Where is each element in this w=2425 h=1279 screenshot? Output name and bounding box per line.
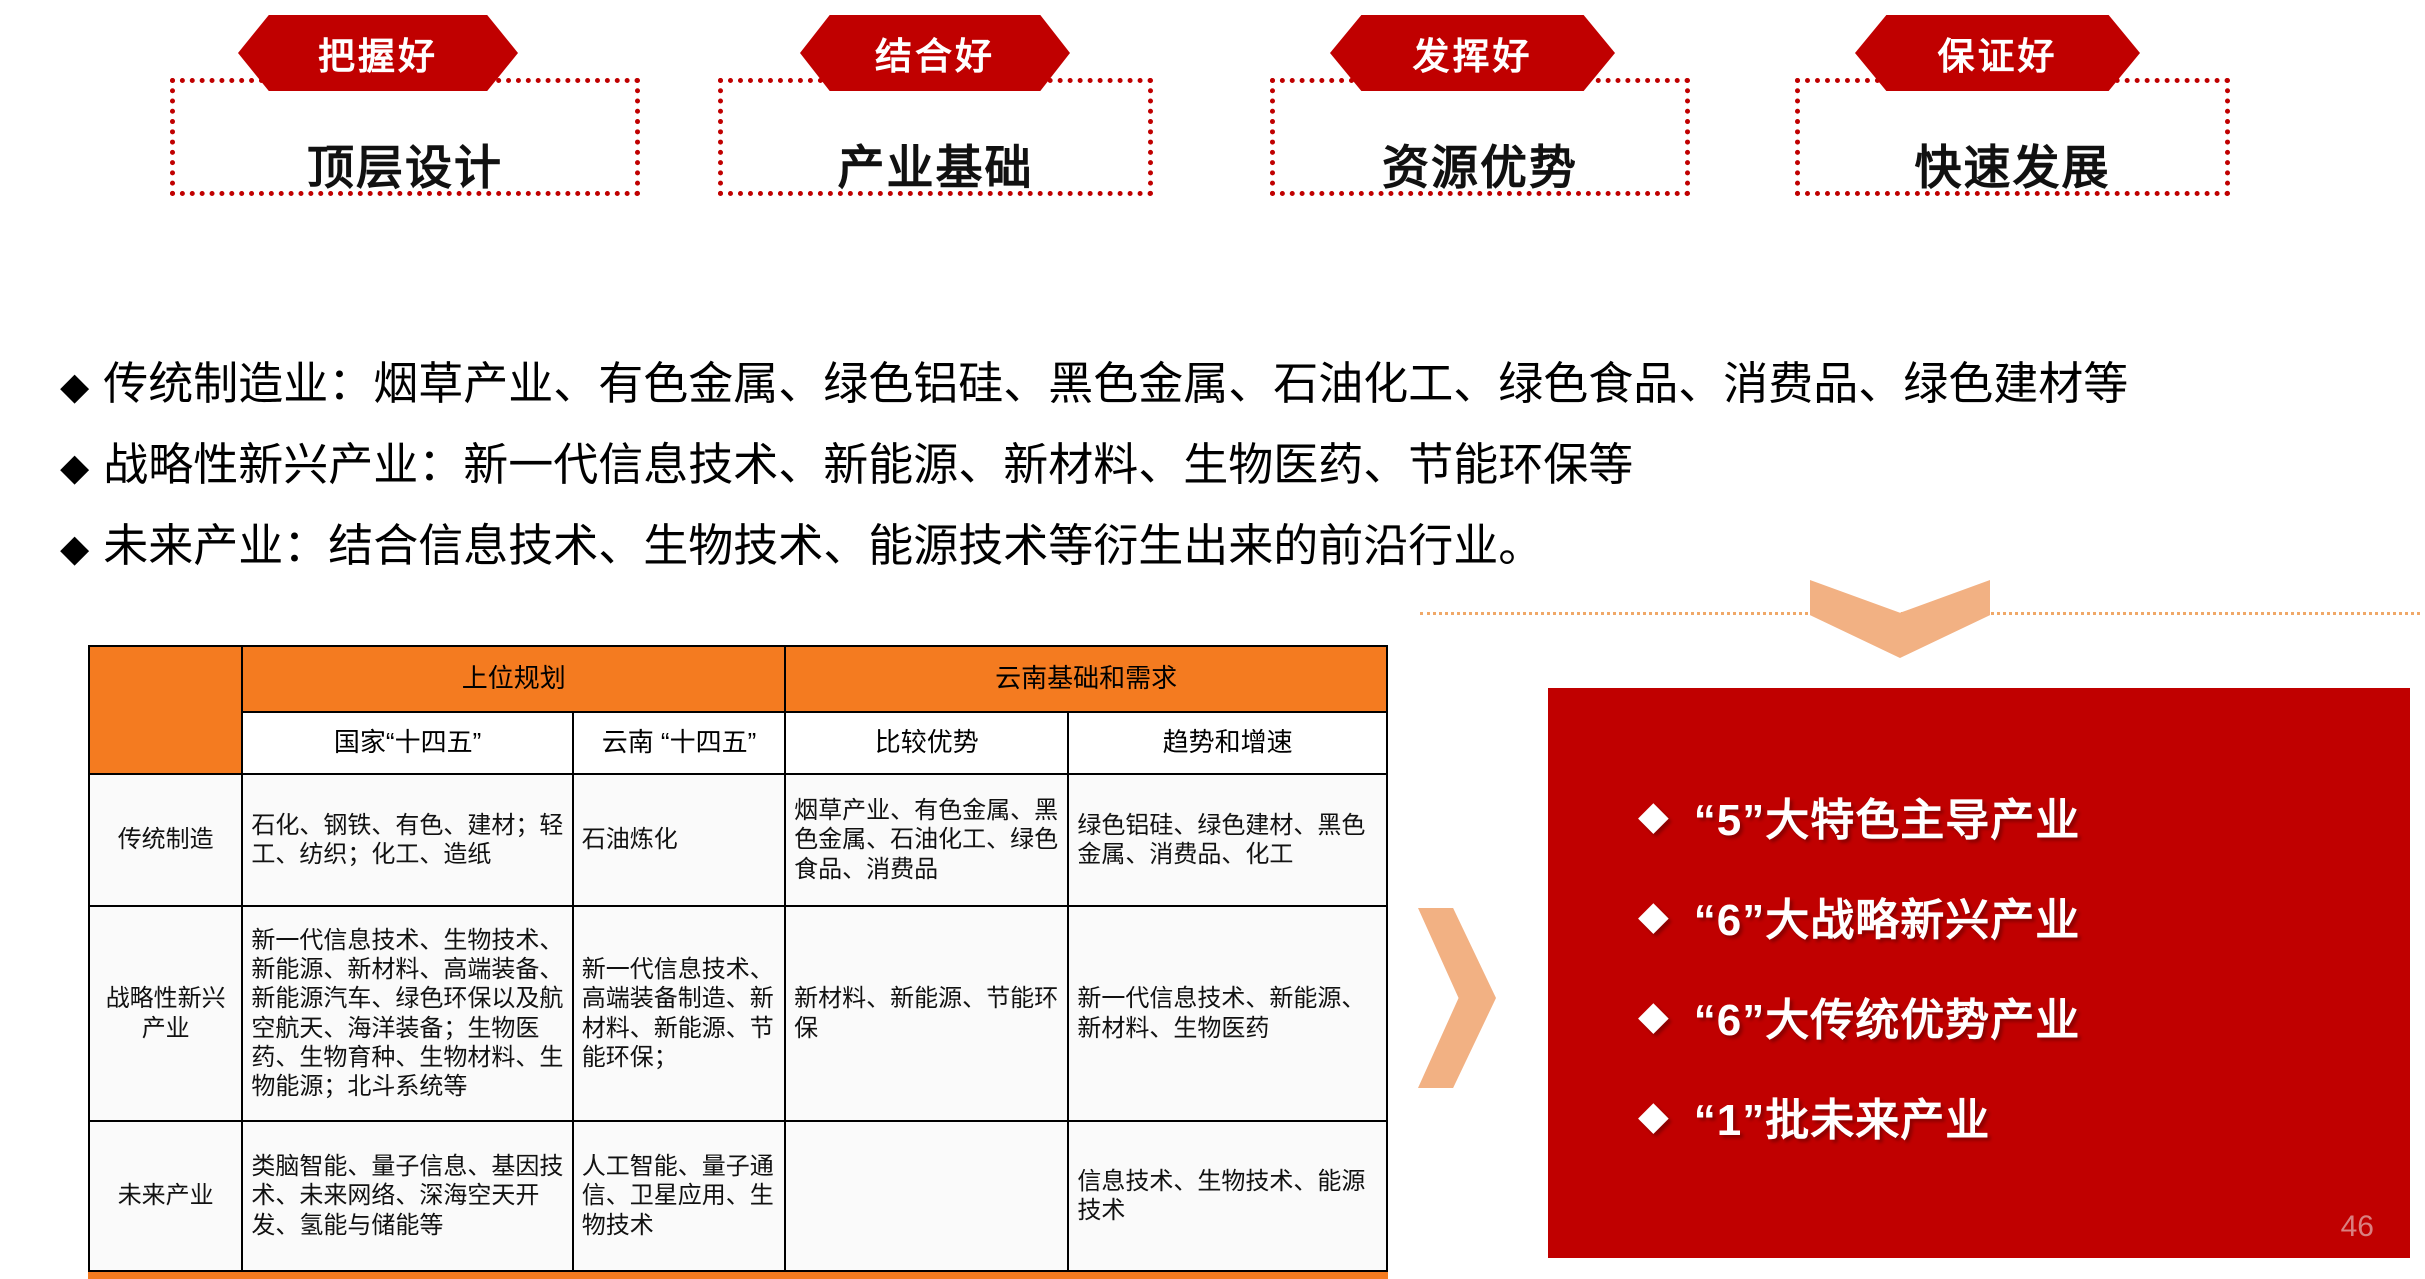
top-card-2: 产业基础 <box>718 78 1153 196</box>
cell-r0-c1: 石油炼化 <box>573 774 785 906</box>
cell-r1-c1: 新一代信息技术、高端装备制造、新材料、新能源、节能环保； <box>573 906 785 1121</box>
top-card-1: 顶层设计 <box>170 78 640 196</box>
ribbon-banner-3-text: 发挥好 <box>1413 26 1533 80</box>
diamond-bullet-icon: ◆ <box>60 348 89 426</box>
bullet-item-2-text: 战略性新兴产业：新一代信息技术、新能源、新材料、生物医药、节能环保等 <box>103 426 1633 504</box>
ribbon-banner-1-text: 把握好 <box>318 26 438 80</box>
row-label-strategic: 战略性新兴产业 <box>89 906 242 1121</box>
summary-item-3-text: “6”大传统优势产业 <box>1694 984 2080 1048</box>
slide-canvas: 顶层设计 把握好 产业基础 结合好 资源优势 发挥好 快速发展 保证好 ◆ 传统… <box>0 0 2425 1279</box>
bullet-item-1: ◆ 传统制造业：烟草产业、有色金属、绿色铝硅、黑色金属、石油化工、绿色食品、消费… <box>60 345 2400 426</box>
summary-item-1: ◆ “5”大特色主导产业 <box>1638 784 2080 848</box>
bullet-item-3: ◆ 未来产业：结合信息技术、生物技术、能源技术等衍生出来的前沿行业。 <box>60 507 2400 588</box>
summary-item-3: ◆ “6”大传统优势产业 <box>1638 984 2080 1048</box>
cell-r1-c2: 新材料、新能源、节能环保 <box>785 906 1068 1121</box>
diamond-bullet-icon: ◆ <box>1638 793 1670 839</box>
cell-r2-c0: 类脑智能、量子信息、基因技术、未来网络、深海空天开发、氢能与储能等 <box>242 1121 572 1271</box>
column-header-trend: 趋势和增速 <box>1068 712 1387 774</box>
group-header-yunnan-basis: 云南基础和需求 <box>785 646 1387 712</box>
cell-r0-c0: 石化、钢铁、有色、建材；轻工、纺织；化工、造纸 <box>242 774 572 906</box>
top-card-3-label: 资源优势 <box>1275 129 1685 198</box>
diamond-bullet-icon: ◆ <box>1638 1093 1670 1139</box>
bullet-item-3-text: 未来产业：结合信息技术、生物技术、能源技术等衍生出来的前沿行业。 <box>103 507 1543 585</box>
bullet-item-1-text: 传统制造业：烟草产业、有色金属、绿色铝硅、黑色金属、石油化工、绿色食品、消费品、… <box>103 345 2128 423</box>
table-bottom-accent-bar <box>88 1272 1388 1279</box>
cell-r0-c2: 烟草产业、有色金属、黑色金属、石油化工、绿色食品、消费品 <box>785 774 1068 906</box>
cell-r2-c2 <box>785 1121 1068 1271</box>
ribbon-banner-3: 发挥好 <box>1330 15 1615 91</box>
column-header-national: 国家“十四五” <box>242 712 572 774</box>
column-header-yunnan: 云南 “十四五” <box>573 712 785 774</box>
top-card-4-label: 快速发展 <box>1800 129 2225 198</box>
summary-red-panel: ◆ “5”大特色主导产业 ◆ “6”大战略新兴产业 ◆ “6”大传统优势产业 ◆… <box>1548 688 2410 1258</box>
top-card-2-label: 产业基础 <box>723 129 1148 198</box>
diamond-bullet-icon: ◆ <box>1638 993 1670 1039</box>
summary-item-2-text: “6”大战略新兴产业 <box>1694 884 2080 948</box>
ribbon-banner-4-text: 保证好 <box>1938 26 2058 80</box>
table-row: 传统制造 石化、钢铁、有色、建材；轻工、纺织；化工、造纸 石油炼化 烟草产业、有… <box>89 774 1387 906</box>
summary-item-4-text: “1”批未来产业 <box>1694 1084 1990 1148</box>
table-column-header-row: 国家“十四五” 云南 “十四五” 比较优势 趋势和增速 <box>89 712 1387 774</box>
planning-table: 上位规划 云南基础和需求 国家“十四五” 云南 “十四五” 比较优势 趋势和增速… <box>88 645 1388 1272</box>
table-row: 战略性新兴产业 新一代信息技术、生物技术、新能源、新材料、高端装备、新能源汽车、… <box>89 906 1387 1121</box>
diamond-bullet-icon: ◆ <box>1638 893 1670 939</box>
summary-item-4: ◆ “1”批未来产业 <box>1638 1084 1990 1148</box>
cell-r1-c3: 新一代信息技术、新能源、新材料、生物医药 <box>1068 906 1387 1121</box>
chevron-down-icon <box>1810 580 1990 658</box>
ribbon-banner-4: 保证好 <box>1855 15 2140 91</box>
diamond-bullet-icon: ◆ <box>60 510 89 588</box>
table-corner-cell <box>89 646 242 774</box>
row-label-future: 未来产业 <box>89 1121 242 1271</box>
cell-r2-c3: 信息技术、生物技术、能源技术 <box>1068 1121 1387 1271</box>
planning-table-wrapper: 上位规划 云南基础和需求 国家“十四五” 云南 “十四五” 比较优势 趋势和增速… <box>88 645 1388 1279</box>
top-card-4: 快速发展 <box>1795 78 2230 196</box>
page-number: 46 <box>2341 1210 2374 1244</box>
top-card-1-label: 顶层设计 <box>175 129 635 198</box>
cell-r1-c0: 新一代信息技术、生物技术、新能源、新材料、高端装备、新能源汽车、绿色环保以及航空… <box>242 906 572 1121</box>
cell-r0-c3: 绿色铝硅、绿色建材、黑色金属、消费品、化工 <box>1068 774 1387 906</box>
column-header-advantage: 比较优势 <box>785 712 1068 774</box>
cell-r2-c1: 人工智能、量子通信、卫星应用、生物技术 <box>573 1121 785 1271</box>
table-group-header-row: 上位规划 云南基础和需求 <box>89 646 1387 712</box>
summary-item-2: ◆ “6”大战略新兴产业 <box>1638 884 2080 948</box>
diamond-bullet-icon: ◆ <box>60 429 89 507</box>
row-label-traditional: 传统制造 <box>89 774 242 906</box>
table-row: 未来产业 类脑智能、量子信息、基因技术、未来网络、深海空天开发、氢能与储能等 人… <box>89 1121 1387 1271</box>
ribbon-banner-2-text: 结合好 <box>875 26 995 80</box>
group-header-upper-plan: 上位规划 <box>242 646 785 712</box>
chevron-right-icon <box>1418 908 1496 1088</box>
ribbon-banner-2: 结合好 <box>800 15 1070 91</box>
top-card-3: 资源优势 <box>1270 78 1690 196</box>
summary-item-1-text: “5”大特色主导产业 <box>1694 784 2080 848</box>
bullet-item-2: ◆ 战略性新兴产业：新一代信息技术、新能源、新材料、生物医药、节能环保等 <box>60 426 2400 507</box>
industry-bullet-list: ◆ 传统制造业：烟草产业、有色金属、绿色铝硅、黑色金属、石油化工、绿色食品、消费… <box>60 345 2400 588</box>
ribbon-banner-1: 把握好 <box>238 15 518 91</box>
